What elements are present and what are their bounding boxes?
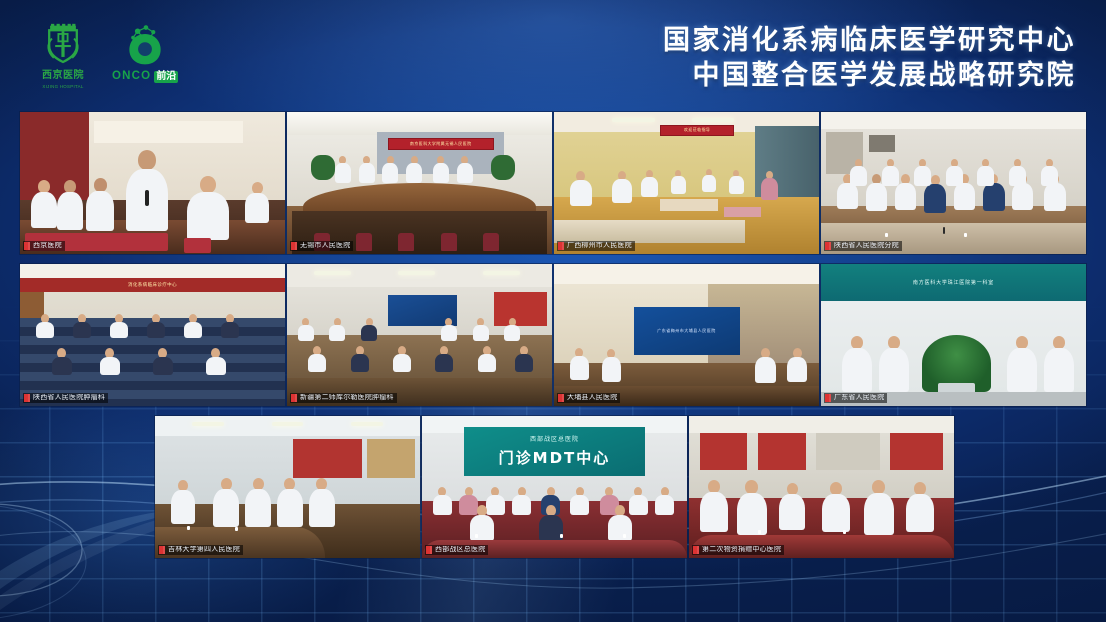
xijing-hospital-logo-cn: 西京医院 bbox=[42, 71, 84, 81]
flag-icon bbox=[558, 242, 564, 250]
tile-label-text: 陕西省人民医院分院 bbox=[834, 242, 899, 250]
onco-logo-en: ONCO bbox=[112, 71, 151, 83]
tile-banner: 广东省梅州市大埔县人民医院 bbox=[657, 328, 716, 334]
flag-icon bbox=[426, 546, 432, 554]
tile-banner: 欢迎莅临指导 bbox=[660, 125, 734, 136]
tile-label: 吉林大学第四人民医院 bbox=[158, 545, 243, 555]
tile-label: 西部战区总医院 bbox=[425, 545, 488, 555]
logo-group: 西京医院 XIJING HOSPITAL ONCO 前沿 bbox=[40, 22, 178, 89]
tile-label-text: 西部战区总医院 bbox=[435, 546, 485, 554]
xijing-hospital-logo-en: XIJING HOSPITAL bbox=[42, 85, 83, 89]
tile-banner: 消化系病临床诊疗中心 bbox=[36, 278, 269, 292]
video-tile[interactable]: 陕西省人民医院分院 bbox=[821, 112, 1086, 254]
flag-icon bbox=[693, 546, 699, 554]
video-feed: 消化系病临床诊疗中心 bbox=[20, 264, 285, 406]
flag-icon bbox=[159, 546, 165, 554]
video-wall: 西京医院 南京医科大学附属无锡人民医院 无 bbox=[0, 104, 1106, 556]
tile-label: 第二次物资捐赠中心医院 bbox=[692, 545, 784, 555]
video-feed bbox=[287, 264, 552, 406]
tile-banner-sub: 西部战区总医院 bbox=[530, 434, 579, 443]
video-tile[interactable]: 吉林大学第四人民医院 bbox=[155, 416, 420, 558]
video-tile[interactable]: 南京医科大学附属无锡人民医院 无锡市人民医院 bbox=[287, 112, 552, 254]
flag-icon bbox=[825, 242, 831, 250]
header: 西京医院 XIJING HOSPITAL ONCO 前沿 国家消化系病临床 bbox=[0, 0, 1106, 104]
tile-label-text: 西京医院 bbox=[33, 242, 62, 250]
video-tile[interactable]: 西部战区总医院 门诊MDT中心 西部战区总医院 bbox=[422, 416, 687, 558]
video-tile[interactable]: 广东省梅州市大埔县人民医院 大埔县人民医院 bbox=[554, 264, 819, 406]
tile-label: 广东省人民医院 bbox=[824, 393, 887, 403]
tile-label: 广西柳州市人民医院 bbox=[557, 241, 635, 251]
video-feed: 南方医科大学珠江医院第一科室 bbox=[821, 264, 1086, 406]
video-tile[interactable]: 欢迎莅临指导 广西柳州市人民医院 bbox=[554, 112, 819, 254]
tile-label-text: 吉林大学第四人民医院 bbox=[168, 546, 240, 554]
video-tile[interactable]: 消化系病临床诊疗中心 陕西省人民医院肿瘤科 bbox=[20, 264, 285, 406]
xijing-hospital-logo: 西京医院 XIJING HOSPITAL bbox=[40, 22, 86, 89]
tile-label-text: 大埔县人民医院 bbox=[567, 394, 617, 402]
tile-label: 陕西省人民医院肿瘤科 bbox=[23, 393, 108, 403]
video-tile[interactable]: 新疆第二师库尔勒医院肿瘤科 bbox=[287, 264, 552, 406]
flag-icon bbox=[24, 242, 30, 250]
tile-banner: 南京医科大学附属无锡人民医院 bbox=[388, 138, 494, 151]
flag-icon bbox=[24, 394, 30, 402]
tile-label-text: 无锡市人民医院 bbox=[300, 242, 350, 250]
tile-banner: 南方医科大学珠江医院第一科室 bbox=[821, 273, 1086, 293]
tile-label-text: 广西柳州市人民医院 bbox=[567, 242, 632, 250]
video-tile[interactable]: 第二次物资捐赠中心医院 bbox=[689, 416, 954, 558]
tile-label-text: 陕西省人民医院肿瘤科 bbox=[33, 394, 105, 402]
video-feed: 欢迎莅临指导 bbox=[554, 112, 819, 254]
flag-icon bbox=[825, 394, 831, 402]
tile-label: 新疆第二师库尔勒医院肿瘤科 bbox=[290, 393, 397, 403]
video-feed bbox=[20, 112, 285, 254]
video-feed bbox=[821, 112, 1086, 254]
video-feed bbox=[155, 416, 420, 558]
onco-wordmark: ONCO 前沿 bbox=[112, 71, 178, 83]
xijing-hospital-crest-icon bbox=[40, 22, 86, 68]
onco-logo-cn: 前沿 bbox=[154, 71, 178, 83]
tile-banner-main: 门诊MDT中心 bbox=[499, 447, 611, 468]
onco-frontier-logo: ONCO 前沿 bbox=[112, 22, 178, 83]
video-feed: 广东省梅州市大埔县人民医院 bbox=[554, 264, 819, 406]
tile-label-text: 新疆第二师库尔勒医院肿瘤科 bbox=[300, 394, 394, 402]
video-tile[interactable]: 西京医院 bbox=[20, 112, 285, 254]
tile-label: 无锡市人民医院 bbox=[290, 241, 353, 251]
video-tile[interactable]: 南方医科大学珠江医院第一科室 广东省人民医院 bbox=[821, 264, 1086, 406]
page-title-line-1: 国家消化系病临床医学研究中心 bbox=[663, 24, 1076, 59]
onco-molecule-icon bbox=[122, 22, 168, 68]
tile-label: 西京医院 bbox=[23, 241, 65, 251]
page-title: 国家消化系病临床医学研究中心 中国整合医学发展战略研究院 bbox=[663, 24, 1076, 93]
video-feed: 西部战区总医院 门诊MDT中心 bbox=[422, 416, 687, 558]
tile-label: 陕西省人民医院分院 bbox=[824, 241, 902, 251]
flag-icon bbox=[291, 394, 297, 402]
flag-icon bbox=[558, 394, 564, 402]
tile-label-text: 广东省人民医院 bbox=[834, 394, 884, 402]
tile-screen-banner: 西部战区总医院 门诊MDT中心 bbox=[464, 427, 644, 475]
flag-icon bbox=[291, 242, 297, 250]
video-feed bbox=[689, 416, 954, 558]
video-feed: 南京医科大学附属无锡人民医院 bbox=[287, 112, 552, 254]
tile-label-text: 第二次物资捐赠中心医院 bbox=[702, 546, 781, 554]
tile-label: 大埔县人民医院 bbox=[557, 393, 620, 403]
page-title-line-2: 中国整合医学发展战略研究院 bbox=[663, 59, 1076, 94]
